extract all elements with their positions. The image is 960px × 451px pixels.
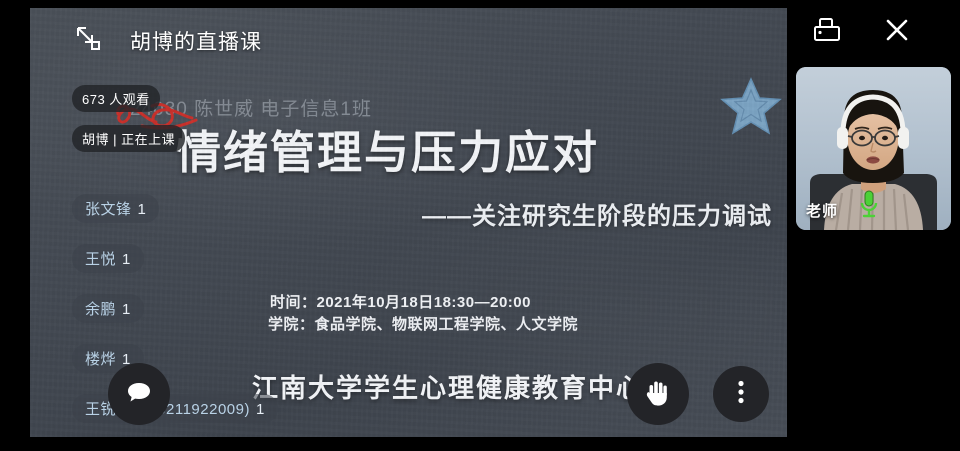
collapse-arrow-icon[interactable] [76, 26, 102, 52]
right-rail: 老师 [787, 0, 960, 451]
chat-count: 1 [122, 251, 131, 268]
chat-author: 王悦 [85, 251, 116, 268]
shared-screen-stage[interactable]: 24030 陈世威 电子信息1班 情绪管理与压力应对 ——关注研究生阶段的压力调… [30, 8, 787, 437]
chat-count: 1 [122, 301, 131, 318]
viewer-count-badge: 673 人观看 [72, 85, 160, 112]
chat-bubble-icon [125, 378, 153, 411]
video-participant-label: 老师 [806, 200, 838, 221]
raise-hand-icon [645, 378, 671, 411]
list-item: 余鹏1 [72, 294, 144, 323]
status-badge: 胡博 | 正在上课 [72, 125, 185, 152]
teacher-video-tile[interactable]: 老师 [796, 67, 951, 230]
live-class-window: 24030 陈世威 电子信息1班 情绪管理与压力应对 ——关注研究生阶段的压力调… [0, 0, 960, 451]
chat-author: 楼烨 [85, 351, 116, 368]
star-decoration-icon [720, 76, 782, 141]
more-vertical-icon [738, 380, 744, 409]
chat-count: 1 [256, 401, 265, 418]
list-item: 张文锋1 [72, 194, 159, 223]
close-icon [883, 16, 911, 49]
list-item: 王悦1 [72, 244, 144, 273]
chat-button[interactable] [108, 363, 170, 425]
list-item: 王锐(学硕,6211922009)1 [72, 394, 278, 423]
stage-header: 胡博的直播课 [30, 8, 787, 70]
chat-author: 余鹏 [85, 301, 116, 318]
microphone-icon [858, 189, 880, 224]
picture-in-picture-icon [812, 16, 842, 49]
chat-count: 1 [138, 201, 147, 218]
more-options-button[interactable] [713, 366, 769, 422]
picture-in-picture-button[interactable] [809, 14, 845, 50]
chat-author: 张文锋 [85, 201, 132, 218]
raise-hand-button[interactable] [627, 363, 689, 425]
close-button[interactable] [879, 14, 915, 50]
page-title: 胡博的直播课 [130, 26, 262, 56]
